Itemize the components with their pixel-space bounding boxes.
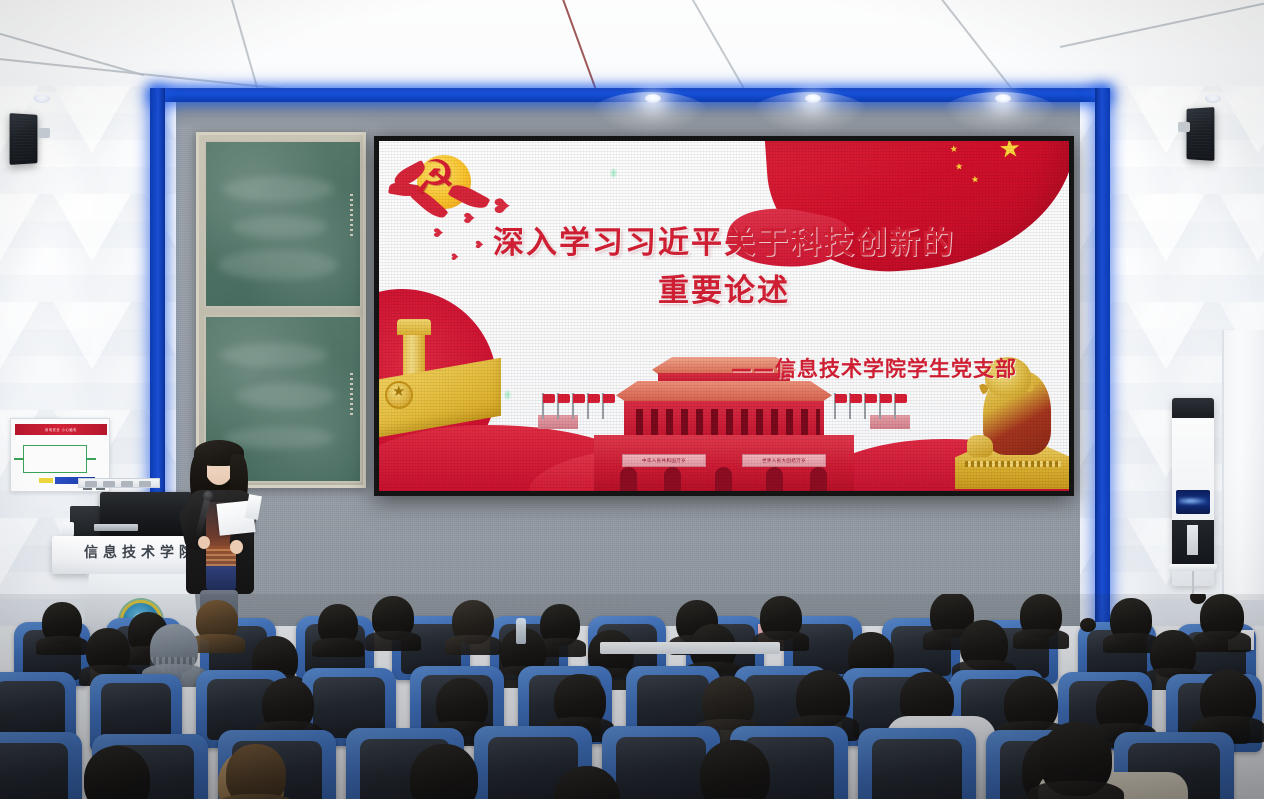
audience-head (86, 628, 130, 674)
presenter-hand-right (230, 540, 243, 554)
tiananmen-banner-left: 中华人民共和国万岁 (622, 454, 706, 467)
audience-area (0, 594, 1264, 799)
slide-attribution: ——信息技术学院学生党支部 (731, 353, 1017, 383)
audience-head (700, 740, 770, 799)
lion-paw (967, 435, 993, 457)
seat (0, 732, 82, 799)
ceiling-downlight (34, 94, 50, 103)
screen-glint (611, 169, 616, 177)
presenter-hand-left (198, 536, 210, 549)
ceiling-downlight (645, 94, 661, 103)
chalkboard-panel-upper (204, 140, 362, 308)
dove-icon: ❥ (474, 241, 485, 251)
audience-head (702, 676, 754, 730)
dove-icon: ❥ (461, 211, 477, 225)
poster-header: 用电安全 小心触电 (15, 424, 107, 435)
national-emblem-icon (385, 381, 413, 409)
tiananmen-arch (620, 467, 637, 491)
hammer-and-sickle-icon: ☭ ❥ ❥ ❥ ❥ ❥ (397, 149, 507, 239)
audience-head (452, 600, 494, 644)
chalkboard (196, 132, 366, 488)
loudspeaker-icon (10, 113, 38, 165)
lectern-monitor-side (70, 506, 100, 540)
tiananmen-columns (628, 409, 820, 435)
ceiling-downlight (995, 94, 1011, 103)
audience-head (1150, 630, 1196, 678)
circuit-diagram-icon (23, 445, 87, 473)
loudspeaker-icon (1187, 107, 1215, 161)
audience-head (960, 620, 1008, 670)
water-bottle (516, 618, 526, 644)
ceiling-seam (1060, 0, 1264, 48)
speaker-bracket (38, 128, 50, 138)
chalkboard-track (350, 194, 353, 238)
desk-edge (600, 642, 780, 654)
chalkboard-track (350, 373, 353, 417)
audience-head (1004, 676, 1058, 732)
red-flag-row-right (834, 393, 906, 419)
audience-hair-bun (1080, 618, 1096, 632)
wall-socket-strip (78, 478, 160, 488)
china-flag-icon: ★ ★ ★ ★ ★ (764, 141, 1069, 280)
audience-head-beanie (150, 624, 198, 674)
ceiling-downlight (1205, 94, 1221, 103)
lecture-hall-scene: ★ ★ ★ ★ ★ ☭ ❥ ❥ ❥ ❥ ❥ (0, 0, 1264, 799)
door-frame (1222, 330, 1264, 600)
speaker-bracket (1178, 122, 1190, 132)
audience-head (760, 596, 802, 640)
audience-head (262, 678, 314, 732)
emblem-glyph: ☭ (413, 153, 473, 209)
flag-star-large: ★ (998, 141, 1022, 163)
slide-title-line-2: 重要论述 (379, 267, 1069, 315)
audience-head (436, 678, 488, 732)
audience-head (1040, 722, 1112, 796)
flag-star-small: ★ (950, 145, 959, 155)
tiananmen-arch (766, 467, 783, 491)
audience-head (42, 602, 82, 644)
audience-head (372, 596, 414, 640)
audience-head (196, 600, 238, 642)
audience-head (318, 604, 358, 646)
audience-head (410, 744, 478, 799)
tiananmen-arch (715, 467, 732, 491)
purifier-display (1176, 490, 1210, 514)
audience-head (226, 744, 286, 799)
audience-head (540, 604, 580, 646)
ceiling-downlight (805, 94, 821, 103)
purifier-shelf (1169, 564, 1217, 571)
dove-icon: ❥ (490, 197, 513, 217)
flag-star-small: ★ (971, 175, 980, 185)
audience-head (1200, 670, 1256, 728)
tiananmen-arch (664, 467, 681, 491)
dove-icon: ❥ (450, 253, 460, 262)
presentation-slide: ★ ★ ★ ★ ★ ☭ ❥ ❥ ❥ ❥ ❥ (379, 141, 1069, 491)
seat (858, 728, 976, 799)
ceiling-seam (0, 30, 144, 76)
tiananmen-banner-right: 世界人民大团结万岁 (742, 454, 826, 467)
screen-glint (505, 391, 510, 399)
led-video-wall: ★ ★ ★ ★ ★ ☭ ❥ ❥ ❥ ❥ ❥ (374, 136, 1074, 496)
tiananmen-arch (810, 467, 827, 491)
purifier-lower-unit (1172, 520, 1214, 566)
audience-head (1096, 680, 1148, 734)
audience-head (1020, 594, 1062, 638)
audience-head (554, 674, 606, 728)
purifier-top-vent (1172, 398, 1214, 418)
dove-icon: ❥ (431, 227, 445, 239)
flag-star-small: ★ (955, 162, 964, 172)
speech-paper (216, 500, 255, 536)
audience-head (1200, 594, 1244, 640)
audience-head (1110, 598, 1152, 642)
audience-head (84, 746, 150, 799)
led-cove-top (150, 88, 1110, 102)
audience-head (796, 670, 850, 726)
presenter (178, 440, 262, 620)
led-cove-right (1095, 88, 1110, 636)
poster-marker-yellow (39, 478, 53, 483)
air-purifier-icon (1172, 398, 1214, 586)
red-flag-row-left (542, 393, 614, 419)
tiananmen-lower-roof (616, 381, 832, 401)
lectern-keyboard (94, 524, 138, 531)
